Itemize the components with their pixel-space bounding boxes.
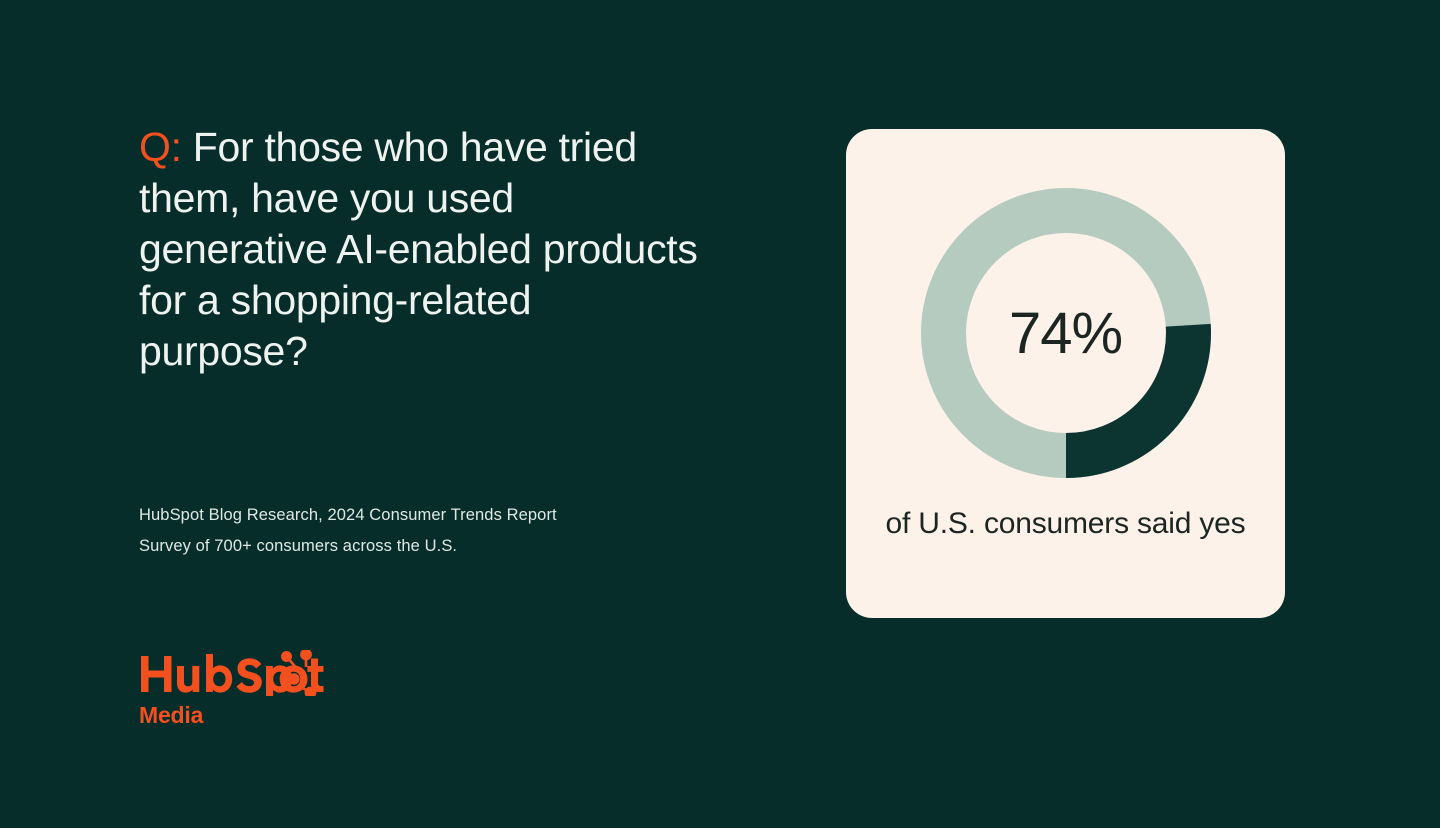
question-heading: Q: For those who have tried them, have y… [139, 122, 699, 377]
question-marker: Q: [139, 124, 182, 170]
question-text: For those who have tried them, have you … [139, 124, 698, 374]
donut-chart: 74% [921, 188, 1211, 478]
hubspot-media-logo[interactable]: Media [139, 650, 329, 728]
left-content-column: Q: For those who have tried them, have y… [139, 122, 739, 377]
logo-sub-label: Media [139, 702, 329, 728]
donut-value-label: 74% [921, 188, 1211, 478]
hubspot-wordmark-icon [139, 650, 329, 694]
stat-card: 74% of U.S. consumers said yes [846, 129, 1285, 618]
stat-caption: of U.S. consumers said yes [886, 505, 1246, 542]
source-attribution: HubSpot Blog Research, 2024 Consumer Tre… [139, 500, 579, 562]
